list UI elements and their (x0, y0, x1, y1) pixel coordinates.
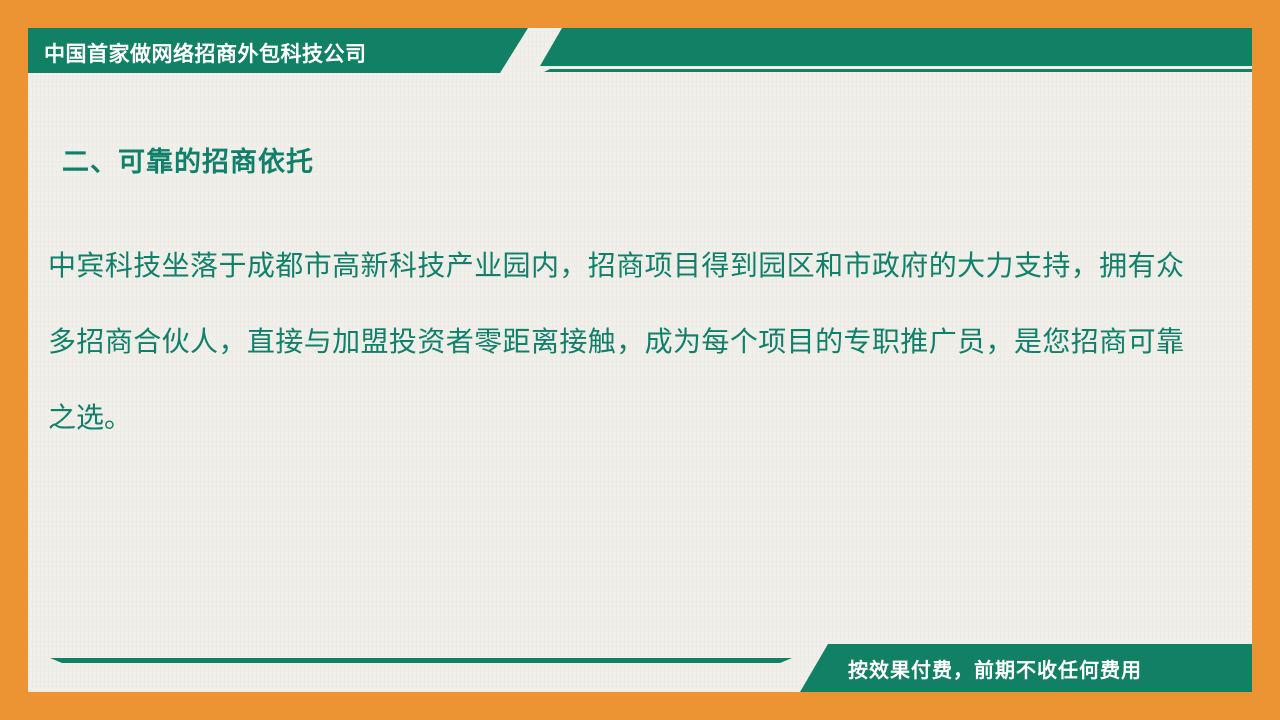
footer-tagline: 按效果付费，前期不收任何费用 (848, 654, 1142, 683)
header-right-shape (540, 28, 1252, 66)
header-band: 中国首家做网络招商外包科技公司 (28, 28, 1252, 73)
header-title: 中国首家做网络招商外包科技公司 (44, 38, 367, 68)
footer-band: 按效果付费，前期不收任何费用 (28, 644, 1252, 692)
footer-accent-line (50, 658, 792, 663)
header-accent-line (544, 69, 1252, 72)
body-paragraph: 中宾科技坐落于成都市高新科技产业园内，招商项目得到园区和市政府的大力支持，拥有众… (48, 228, 1184, 456)
section-heading: 二、可靠的招商依托 (62, 140, 314, 179)
slide-root: 中国首家做网络招商外包科技公司 二、可靠的招商依托 中宾科技坐落于成都市高新科技… (0, 0, 1280, 720)
